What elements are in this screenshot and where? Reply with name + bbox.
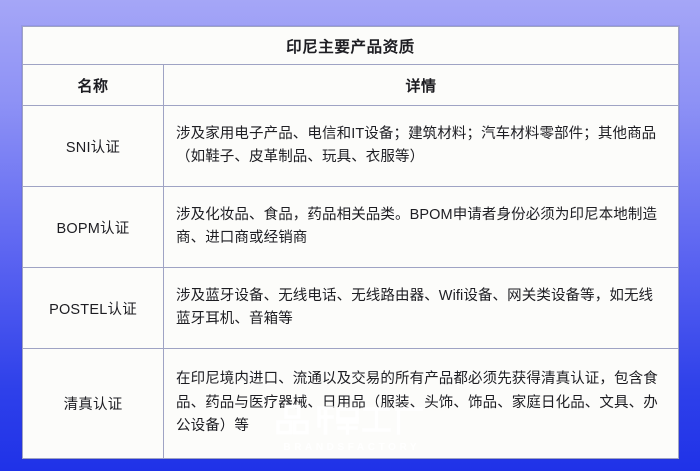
table-header-row: 名称 详情	[23, 65, 679, 106]
table-row: SNI认证 涉及家用电子产品、电信和IT设备；建筑材料；汽车材料零部件；其他商品…	[23, 106, 679, 187]
poster-canvas: 印尼主要产品资质 名称 详情 SNI认证 涉及家用电子产品、电信和IT设备；建筑…	[0, 0, 700, 471]
table-row: BOPM认证 涉及化妆品、食品，药品相关品类。BPOM申请者身份必须为印尼本地制…	[23, 187, 679, 268]
qualification-table-container: 印尼主要产品资质 名称 详情 SNI认证 涉及家用电子产品、电信和IT设备；建筑…	[22, 26, 678, 386]
row-name-bopm: BOPM认证	[23, 187, 164, 268]
brandsfactory-logo-icon	[276, 404, 424, 437]
row-name-sni: SNI认证	[23, 106, 164, 187]
table-title-row: 印尼主要产品资质	[23, 27, 679, 65]
column-header-name: 名称	[23, 65, 164, 106]
column-header-detail: 详情	[164, 65, 679, 106]
row-detail-sni: 涉及家用电子产品、电信和IT设备；建筑材料；汽车材料零部件；其他商品（如鞋子、皮…	[164, 106, 679, 187]
row-detail-bopm: 涉及化妆品、食品，药品相关品类。BPOM申请者身份必须为印尼本地制造商、进口商或…	[164, 187, 679, 268]
qualification-table: 印尼主要产品资质 名称 详情 SNI认证 涉及家用电子产品、电信和IT设备；建筑…	[22, 26, 679, 459]
brand-footer: BRANDSFACTORY	[0, 404, 700, 453]
table-title: 印尼主要产品资质	[23, 27, 679, 65]
row-detail-postel: 涉及蓝牙设备、无线电话、无线路由器、Wifi设备、网关类设备等，如无线蓝牙耳机、…	[164, 268, 679, 349]
row-name-postel: POSTEL认证	[23, 268, 164, 349]
brandsfactory-wordmark: BRANDSFACTORY	[280, 442, 420, 453]
table-row: POSTEL认证 涉及蓝牙设备、无线电话、无线路由器、Wifi设备、网关类设备等…	[23, 268, 679, 349]
